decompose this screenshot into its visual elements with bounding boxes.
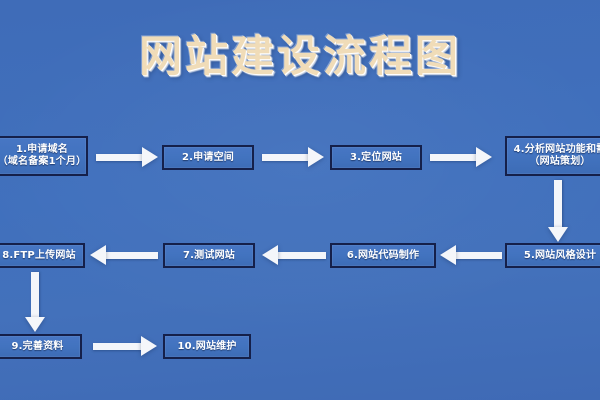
arrow-shaft — [262, 154, 308, 161]
flow-node-9: 9.完善资料 — [0, 334, 82, 359]
flow-arrow-7 — [90, 245, 158, 265]
page-title: 网站建设流程图 — [0, 22, 600, 84]
arrow-shaft — [554, 180, 562, 227]
flow-node-8-line1: 8.FTP上传网站 — [2, 250, 76, 262]
flow-node-8: 8.FTP上传网站 — [0, 243, 85, 268]
flow-arrow-5 — [440, 245, 502, 265]
flow-node-1-line1: 1.申请域名 — [16, 144, 68, 156]
flow-node-3-line1: 3.定位网站 — [350, 152, 402, 164]
arrow-shaft — [31, 272, 39, 317]
arrow-head — [142, 147, 158, 167]
flow-node-6-line1: 6.网站代码制作 — [347, 250, 419, 262]
flow-arrow-8 — [25, 272, 45, 332]
flow-node-4-line1: 4.分析网站功能和需 — [514, 144, 600, 156]
flow-node-1: 1.申请域名 （域名备案1个月） — [0, 136, 88, 176]
arrow-head — [262, 245, 278, 265]
arrow-shaft — [106, 252, 158, 259]
arrow-shaft — [93, 343, 141, 350]
arrow-shaft — [430, 154, 476, 161]
flow-node-7: 7.测试网站 — [163, 243, 255, 268]
flowchart-canvas: 网站建设流程图 1.申请域名 （域名备案1个月） 2.申请空间 3.定位网站 4… — [0, 0, 600, 400]
flow-arrow-6 — [262, 245, 326, 265]
flow-node-9-line1: 9.完善资料 — [12, 341, 64, 353]
flow-arrow-9 — [93, 336, 157, 356]
flow-node-7-line1: 7.测试网站 — [183, 250, 235, 262]
arrow-head — [548, 227, 568, 242]
flow-node-5: 5.网站风格设计 — [505, 243, 600, 268]
flow-arrow-3 — [430, 147, 492, 167]
flow-node-2-line1: 2.申请空间 — [182, 152, 234, 164]
flow-node-3: 3.定位网站 — [330, 145, 422, 170]
arrow-head — [440, 245, 456, 265]
flow-arrow-2 — [262, 147, 324, 167]
flow-node-6: 6.网站代码制作 — [330, 243, 436, 268]
flow-arrow-1 — [96, 147, 158, 167]
arrow-shaft — [278, 252, 326, 259]
arrow-head — [476, 147, 492, 167]
arrow-head — [90, 245, 106, 265]
arrow-head — [308, 147, 324, 167]
flow-node-10: 10.网站维护 — [163, 334, 251, 359]
arrow-shaft — [456, 252, 502, 259]
flow-node-10-line1: 10.网站维护 — [177, 341, 236, 353]
flow-node-5-line1: 5.网站风格设计 — [524, 250, 596, 262]
flow-node-2: 2.申请空间 — [162, 145, 254, 170]
flow-node-4-line2: （网站策划） — [529, 156, 590, 168]
flow-arrow-4 — [548, 180, 568, 242]
arrow-shaft — [96, 154, 142, 161]
arrow-head — [25, 317, 45, 332]
flow-node-4: 4.分析网站功能和需 （网站策划） — [505, 136, 600, 176]
flow-node-1-line2: （域名备案1个月） — [0, 156, 86, 168]
arrow-head — [141, 336, 157, 356]
